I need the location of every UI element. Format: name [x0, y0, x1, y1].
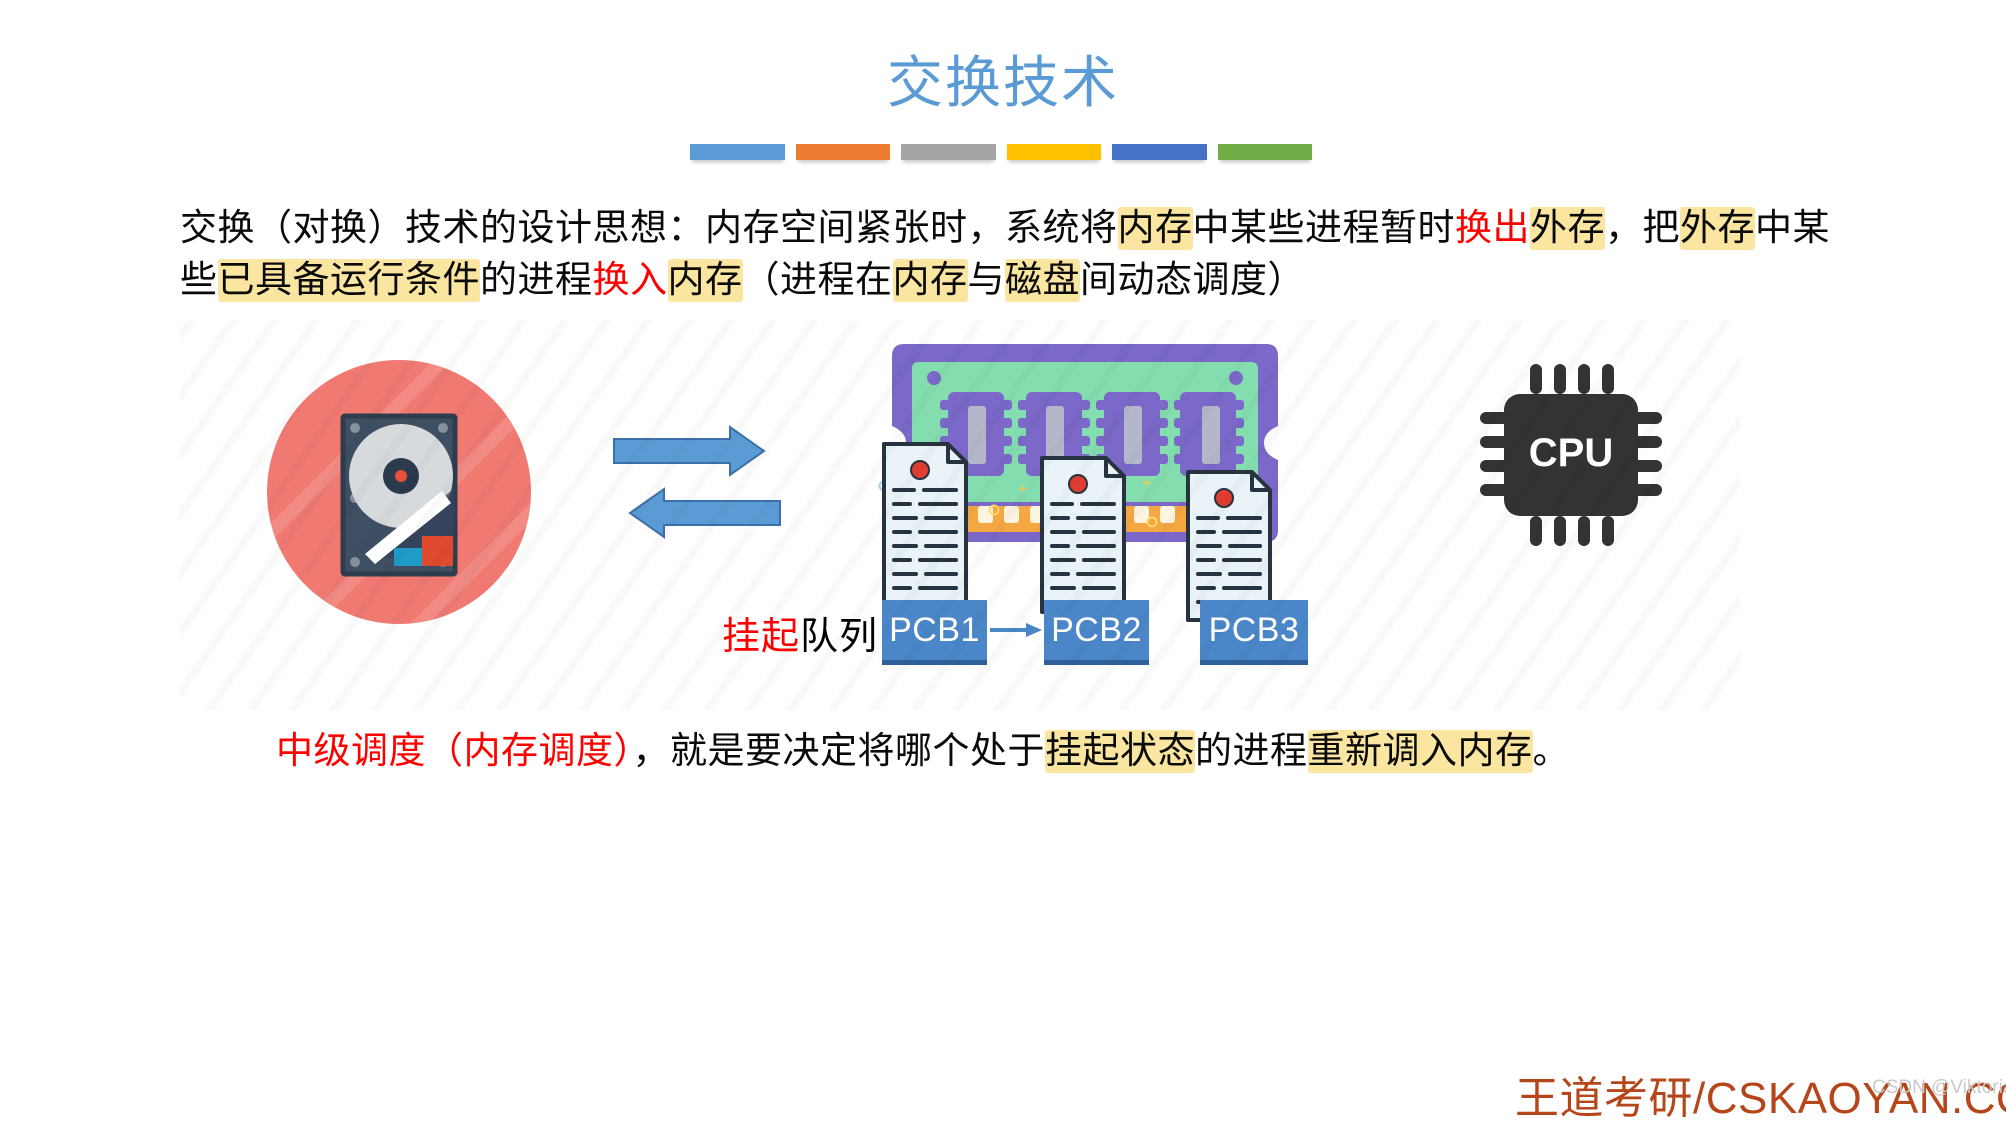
- pcb-box-2[interactable]: PCB2: [1044, 600, 1149, 665]
- title-accent-bars: [690, 144, 1312, 160]
- para-seg-14: 与: [968, 260, 1006, 301]
- page-title: 交换技术: [0, 54, 2006, 116]
- process-document-icon: [884, 444, 966, 608]
- para-seg-9: 的进程: [480, 260, 593, 301]
- para-seg-5: ，把: [1605, 208, 1680, 249]
- process-document-icon: [1042, 458, 1124, 612]
- para-seg-10: 换入: [593, 260, 668, 301]
- para-seg-4: 外存: [1530, 207, 1605, 250]
- mid-seg-4: 重新调入内存: [1308, 730, 1533, 773]
- para-seg-0: 交换（对换）技术的设计思想：内存空间紧张时，系统将: [180, 208, 1118, 249]
- para-seg-1: 内存: [1118, 207, 1193, 250]
- pcb-link-arrow: [990, 620, 1042, 640]
- swap-arrows: [612, 425, 782, 550]
- para-seg-16: 间动态调度）: [1080, 260, 1305, 301]
- para-seg-13: 内存: [893, 259, 968, 302]
- para-seg-8: 已具备运行条件: [218, 259, 481, 302]
- cpu-label: CPU: [1529, 431, 1613, 475]
- mid-seg-1: ，就是要决定将哪个处于: [633, 731, 1046, 772]
- mid-seg-0: 中级调度（内存调度）: [276, 731, 633, 772]
- mid-seg-3: 的进程: [1195, 731, 1308, 772]
- pcb-box-1[interactable]: PCB1: [882, 600, 987, 665]
- cpu-chip-icon: CPU: [1478, 360, 1663, 550]
- mid-level-scheduling-line: 中级调度（内存调度），就是要决定将哪个处于挂起状态的进程重新调入内存。: [276, 728, 1676, 776]
- para-seg-11: 内存: [668, 259, 743, 302]
- csdn-watermark: CSDN @Viktoriae: [1872, 1077, 2006, 1099]
- para-seg-6: 外存: [1680, 207, 1755, 250]
- mid-seg-2: 挂起状态: [1045, 730, 1195, 773]
- title-bar-yellow: [1007, 144, 1102, 160]
- svg-text:+: +: [1018, 481, 1027, 498]
- intro-paragraph: 交换（对换）技术的设计思想：内存空间紧张时，系统将内存中某些进程暂时换出外存，把…: [180, 203, 1840, 307]
- swap-out-arrow: [614, 427, 764, 475]
- svg-text:+: +: [1142, 475, 1151, 492]
- queue-label-red: 挂起: [722, 616, 800, 658]
- title-bar-green: [1218, 144, 1313, 160]
- para-seg-3: 换出: [1455, 208, 1530, 249]
- title-bar-orange: [796, 144, 891, 160]
- title-bar-gray: [901, 144, 996, 160]
- mid-seg-5: 。: [1533, 731, 1571, 772]
- title-bar-indigo: [1112, 144, 1207, 160]
- para-seg-12: （进程在: [743, 260, 893, 301]
- process-document-icon: [1188, 472, 1270, 620]
- hard-disk-icon: [265, 358, 533, 626]
- pcb-box-3[interactable]: PCB3: [1200, 600, 1308, 665]
- queue-label-black: 队列: [800, 616, 878, 658]
- title-bar-blue: [690, 144, 785, 160]
- para-seg-15: 磁盘: [1005, 259, 1080, 302]
- para-seg-2: 中某些进程暂时: [1193, 208, 1456, 249]
- swapping-diagram: + + + +: [0, 330, 2006, 700]
- suspended-queue-label: 挂起队列: [722, 615, 878, 659]
- swap-in-arrow: [630, 489, 780, 537]
